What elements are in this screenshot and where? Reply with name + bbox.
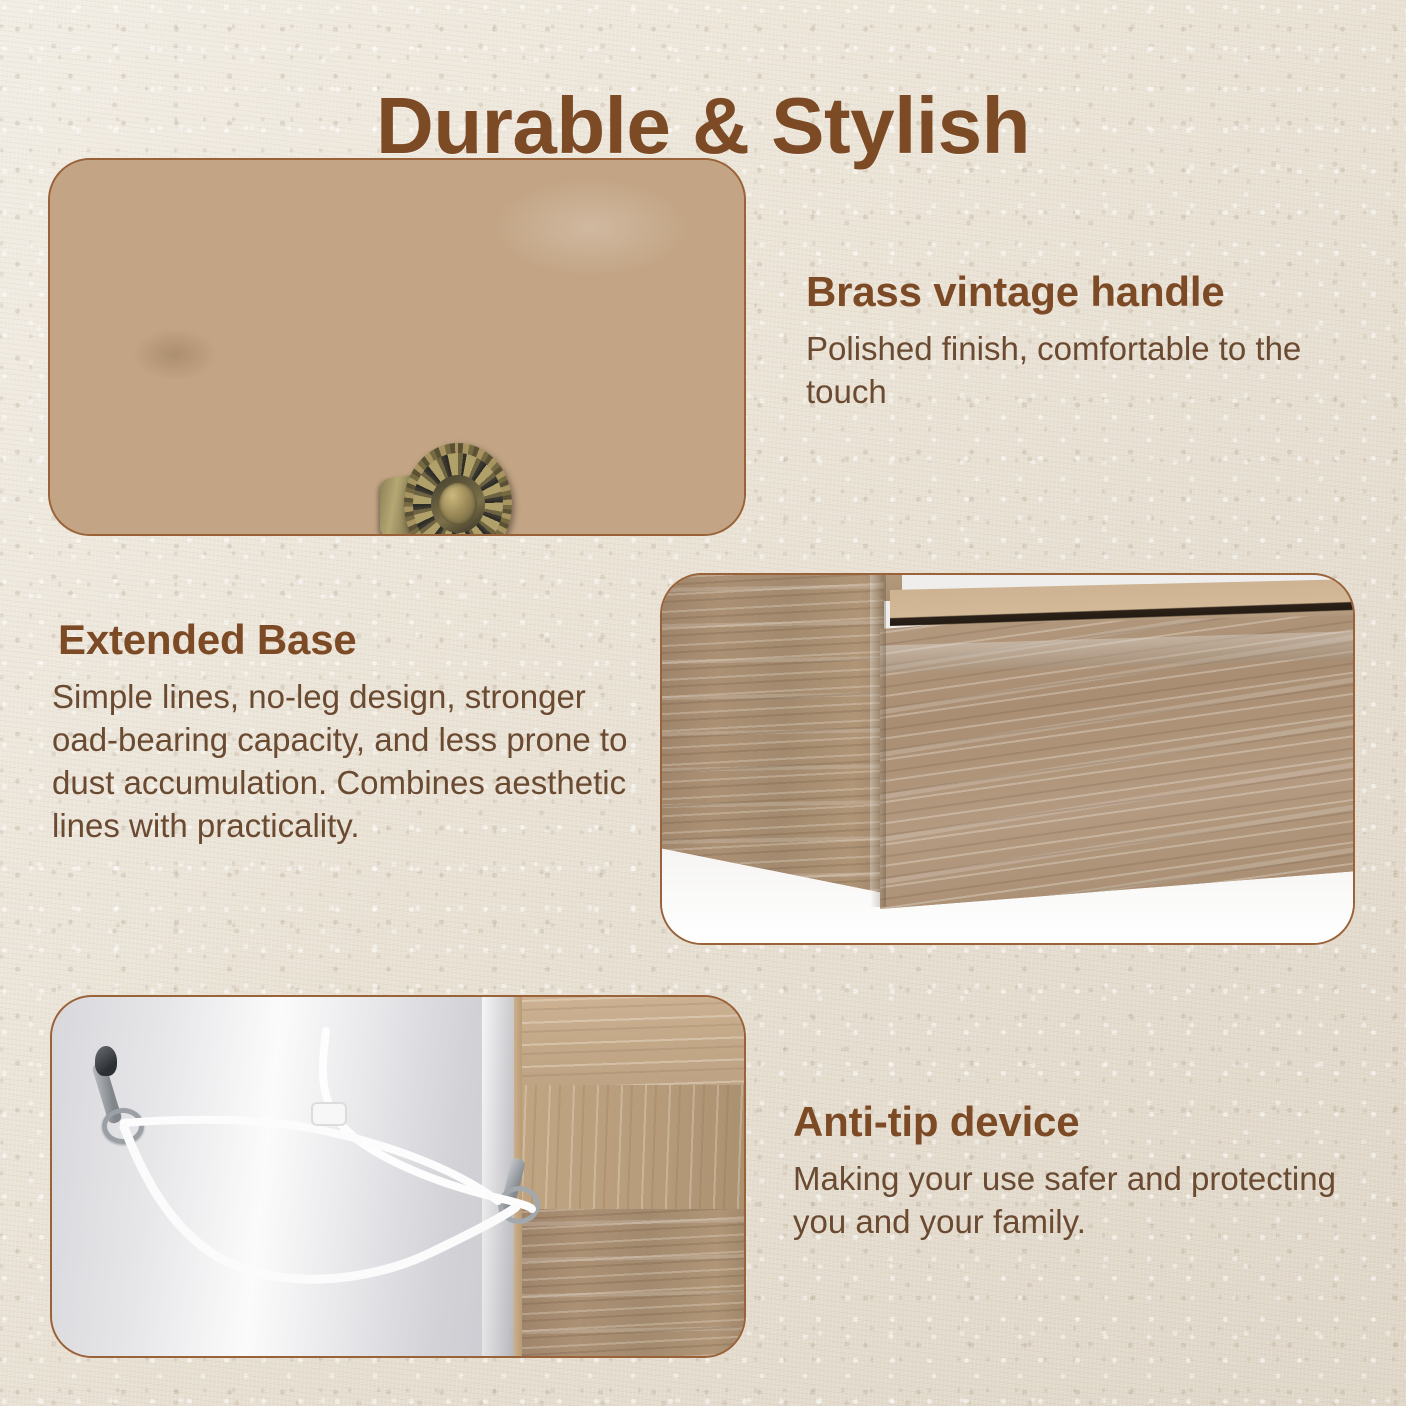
brass-knob-icon bbox=[380, 443, 512, 536]
feature-image-anti-tip bbox=[50, 995, 746, 1358]
cabinet-side-panel bbox=[662, 575, 884, 893]
feature-heading-anti-tip: Anti-tip device bbox=[793, 1098, 1079, 1146]
feature-heading-brass-handle: Brass vintage handle bbox=[806, 268, 1224, 316]
wall-bracket-loop bbox=[102, 1108, 144, 1144]
furniture-bracket-loop bbox=[498, 1186, 540, 1224]
feature-image-extended-base bbox=[660, 573, 1355, 945]
feature-body-anti-tip: Making your use safer and protecting you… bbox=[793, 1158, 1393, 1244]
knob-beaded-rim bbox=[404, 443, 512, 536]
furniture-lower-body bbox=[522, 1209, 746, 1356]
knob-center-boss bbox=[439, 483, 477, 525]
white-wall bbox=[52, 997, 527, 1356]
feature-body-extended-base: Simple lines, no-leg design, stronger oa… bbox=[52, 676, 648, 848]
furniture-side-face bbox=[522, 1085, 746, 1213]
feature-heading-extended-base: Extended Base bbox=[58, 616, 357, 664]
cabinet-corner-edge bbox=[870, 575, 886, 907]
furniture-top-surface bbox=[522, 997, 746, 1089]
feature-body-brass-handle: Polished finish, comfortable to the touc… bbox=[806, 328, 1314, 414]
wall-anchor-screw-icon bbox=[95, 1046, 117, 1076]
feature-image-brass-handle bbox=[48, 158, 746, 536]
